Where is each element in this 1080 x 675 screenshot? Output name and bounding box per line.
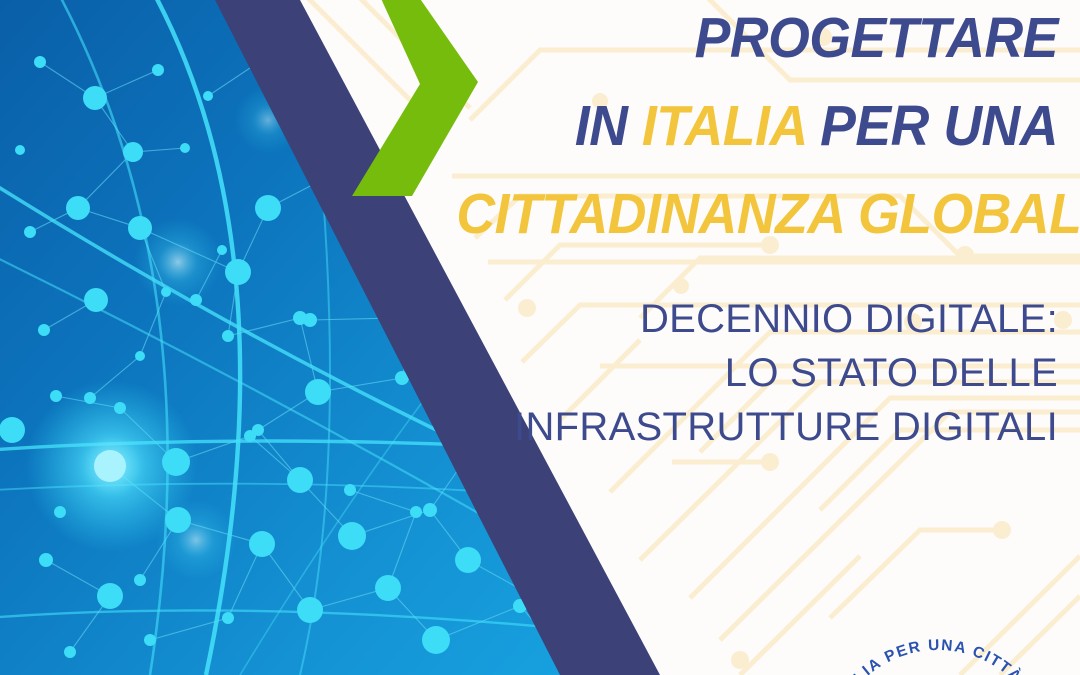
headline-line-3: CITTADINANZA GLOBALE: [456, 170, 1058, 258]
headline-line-2: IN ITALIA PER UNA: [456, 82, 1058, 170]
subtitle: DECENNIO DIGITALE: LO STATO DELLE INFRAS…: [398, 292, 1058, 454]
headline-line-2-part-3: PER UNA: [820, 94, 1058, 158]
text-content-layer: PROGETTARE IN ITALIA PER UNA CITTADINANZ…: [0, 0, 1080, 675]
subtitle-line-2: LO STATO DELLE: [398, 346, 1058, 400]
headline-line-1: PROGETTARE: [456, 0, 1058, 82]
subtitle-line-1: DECENNIO DIGITALE:: [398, 292, 1058, 346]
subtitle-line-3: INFRASTRUTTURE DIGITALI: [398, 400, 1058, 454]
headline: PROGETTARE IN ITALIA PER UNA CITTADINANZ…: [418, 0, 1058, 258]
poster-canvas: LIA PER UNA CITTÀ PROGETTARE IN ITALIA P…: [0, 0, 1080, 675]
headline-line-2-part-1: IN: [575, 94, 642, 158]
headline-line-2-highlight-italia: ITALIA: [642, 94, 820, 158]
